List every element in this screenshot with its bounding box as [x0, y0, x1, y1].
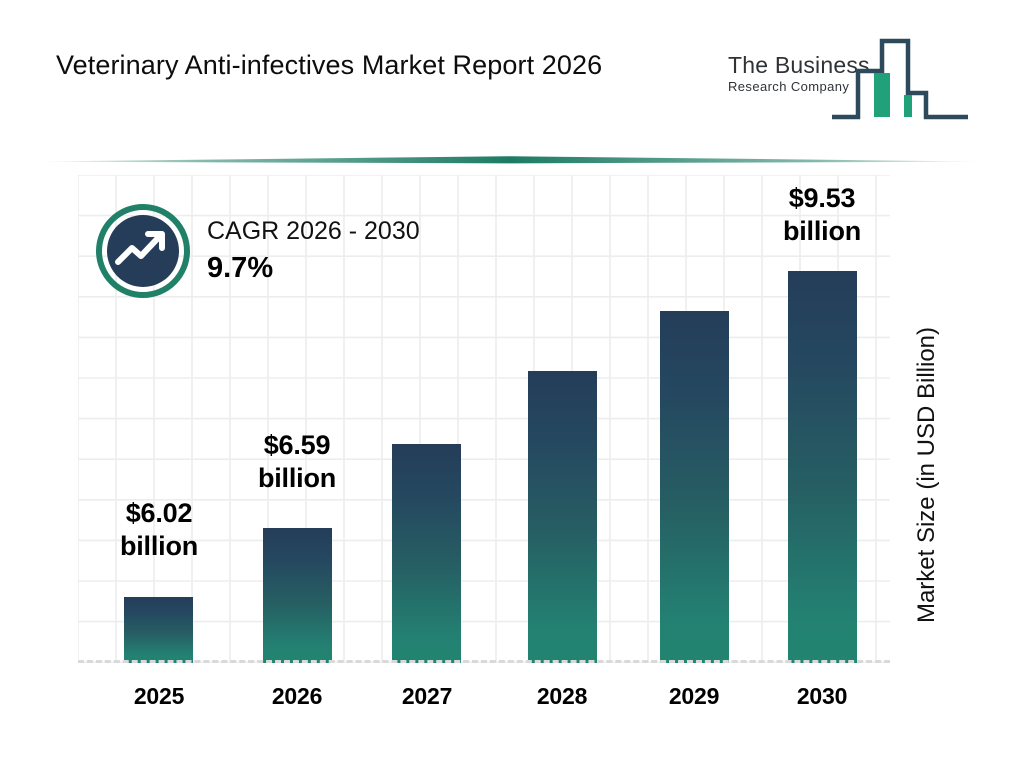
cagr-value: 9.7%	[207, 250, 420, 286]
bar-label-2025-unit: billion	[98, 530, 220, 563]
cagr-text-block: CAGR 2026 - 2030 9.7%	[207, 216, 420, 286]
bar-2026[interactable]	[263, 528, 332, 663]
bar-label-2026-value: $6.59	[236, 429, 358, 462]
bar-label-2025: $6.02 billion	[98, 497, 220, 563]
x-axis-label-2027: 2027	[366, 681, 488, 711]
y-axis-title-wrap: Market Size (in USD Billion)	[905, 270, 949, 680]
bar-2028[interactable]	[528, 371, 597, 663]
bar-2029[interactable]	[660, 311, 729, 663]
bar-label-2030: $9.53 billion	[761, 182, 883, 248]
cagr-badge	[96, 204, 190, 298]
bar-label-2030-unit: billion	[761, 215, 883, 248]
x-axis-label-2026: 2026	[236, 681, 358, 711]
section-divider	[30, 152, 990, 170]
bar-2025[interactable]	[124, 597, 193, 663]
page-title: Veterinary Anti-infectives Market Report…	[56, 47, 696, 84]
bar-chart-logo-mark	[830, 33, 970, 130]
x-axis-label-2029: 2029	[633, 681, 755, 711]
bar-label-2026-unit: billion	[236, 462, 358, 495]
bar-2027[interactable]	[392, 444, 461, 663]
x-axis-label-2030: 2030	[761, 681, 883, 711]
x-axis-label-2025: 2025	[98, 681, 220, 711]
bar-label-2026: $6.59 billion	[236, 429, 358, 495]
trending-up-icon	[96, 204, 190, 298]
bar-2030[interactable]	[788, 271, 857, 663]
axis-baseline	[78, 660, 890, 663]
y-axis-title: Market Size (in USD Billion)	[905, 270, 949, 680]
company-logo: The Business Research Company	[722, 33, 974, 125]
x-axis-label-2028: 2028	[501, 681, 623, 711]
bar-label-2025-value: $6.02	[98, 497, 220, 530]
chart-canvas: Veterinary Anti-infectives Market Report…	[0, 0, 1024, 768]
bar-label-2030-value: $9.53	[761, 182, 883, 215]
cagr-period-label: CAGR 2026 - 2030	[207, 216, 420, 247]
